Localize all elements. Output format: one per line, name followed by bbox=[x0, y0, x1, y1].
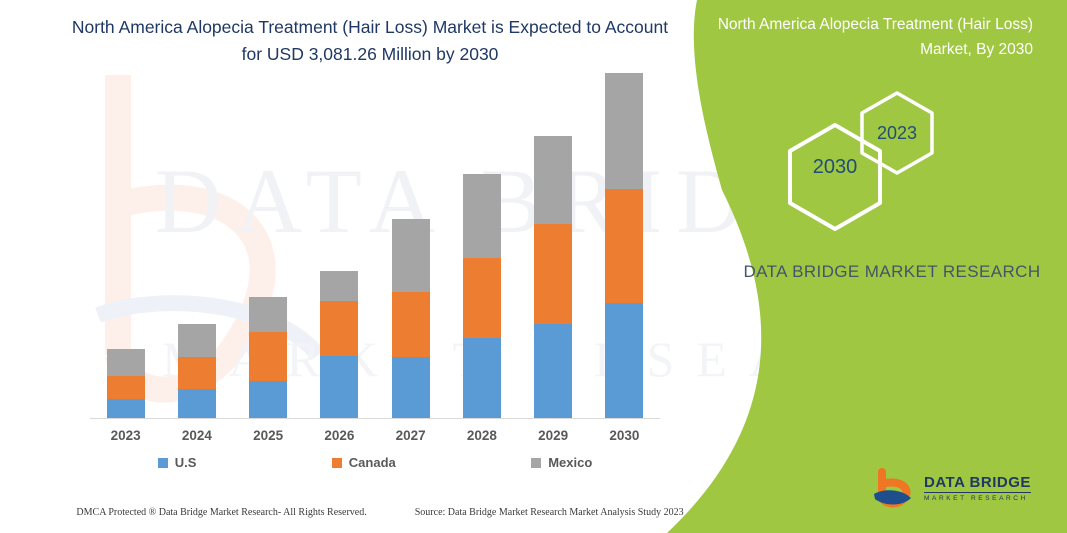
x-axis-label-2027: 2027 bbox=[375, 428, 446, 443]
bar-segment-mexico-2028 bbox=[463, 174, 501, 258]
bar-column-2023 bbox=[90, 60, 161, 418]
x-axis-label-2025: 2025 bbox=[233, 428, 304, 443]
chart-legend: U.SCanadaMexico bbox=[90, 455, 660, 470]
bar-segment-mexico-2026 bbox=[320, 271, 358, 301]
brand-name: DATA BRIDGE MARKET RESEARCH bbox=[727, 258, 1057, 286]
legend-label: U.S bbox=[175, 455, 197, 470]
footer: DMCA Protected ® Data Bridge Market Rese… bbox=[0, 507, 760, 518]
hexagon-2023-label: 2023 bbox=[857, 123, 937, 144]
bar-segment-canada-2028 bbox=[463, 258, 501, 339]
bar-segment-mexico-2027 bbox=[392, 219, 430, 292]
bar-segment-canada-2025 bbox=[249, 332, 287, 381]
legend-swatch-icon bbox=[531, 458, 541, 468]
chart-panel: DATA BRIDGE MARKET RESEARCH North Americ… bbox=[0, 0, 760, 533]
bar-segment-us-2030 bbox=[605, 303, 643, 418]
bar-segment-us-2027 bbox=[392, 357, 430, 418]
bar-segment-us-2024 bbox=[178, 389, 216, 418]
bar-segment-mexico-2029 bbox=[534, 136, 572, 225]
bar-segment-canada-2030 bbox=[605, 189, 643, 303]
bar-column-2024 bbox=[161, 60, 232, 418]
bar-segment-us-2026 bbox=[320, 356, 358, 418]
legend-label: Mexico bbox=[548, 455, 592, 470]
logo-main-text: DATA BRIDGE bbox=[924, 475, 1031, 493]
bar-segment-canada-2029 bbox=[534, 224, 572, 323]
x-axis-label-2026: 2026 bbox=[304, 428, 375, 443]
footer-dmca-text: DMCA Protected ® Data Bridge Market Rese… bbox=[76, 507, 366, 518]
data-bridge-logo-icon bbox=[872, 468, 916, 510]
bar-segment-canada-2026 bbox=[320, 301, 358, 355]
legend-swatch-icon bbox=[332, 458, 342, 468]
brand-panel: North America Alopecia Treatment (Hair L… bbox=[667, 0, 1067, 533]
bar-segment-us-2025 bbox=[249, 381, 287, 418]
bar-segment-us-2023 bbox=[107, 399, 145, 418]
stacked-bar-chart bbox=[90, 60, 660, 418]
bar-segment-canada-2027 bbox=[392, 292, 430, 357]
panel-title: North America Alopecia Treatment (Hair L… bbox=[713, 12, 1033, 62]
logo-sub-text: MARKET RESEARCH bbox=[924, 496, 1031, 503]
legend-item-canada[interactable]: Canada bbox=[332, 455, 396, 470]
x-axis-label-2029: 2029 bbox=[518, 428, 589, 443]
bar-segment-mexico-2024 bbox=[178, 324, 216, 357]
bar-segment-canada-2024 bbox=[178, 357, 216, 389]
legend-item-mexico[interactable]: Mexico bbox=[531, 455, 592, 470]
company-logo: DATA BRIDGE MARKET RESEARCH bbox=[872, 468, 1031, 510]
bar-segment-mexico-2023 bbox=[107, 349, 145, 376]
legend-label: Canada bbox=[349, 455, 396, 470]
hexagon-2030-label: 2030 bbox=[795, 156, 875, 179]
bar-segment-canada-2023 bbox=[107, 376, 145, 400]
x-axis-labels: 20232024202520262027202820292030 bbox=[90, 428, 660, 443]
bar-segment-us-2029 bbox=[534, 324, 572, 418]
bar-column-2027 bbox=[375, 60, 446, 418]
bar-column-2029 bbox=[518, 60, 589, 418]
legend-swatch-icon bbox=[158, 458, 168, 468]
x-axis-label-2030: 2030 bbox=[589, 428, 660, 443]
bar-column-2026 bbox=[304, 60, 375, 418]
bar-column-2025 bbox=[233, 60, 304, 418]
bar-segment-mexico-2025 bbox=[249, 297, 287, 331]
bar-segment-us-2028 bbox=[463, 338, 501, 418]
x-axis-label-2028: 2028 bbox=[446, 428, 517, 443]
x-axis-label-2023: 2023 bbox=[90, 428, 161, 443]
bar-column-2030 bbox=[589, 60, 660, 418]
infographic-root: DATA BRIDGE MARKET RESEARCH North Americ… bbox=[0, 0, 1067, 533]
bar-column-2028 bbox=[446, 60, 517, 418]
bar-segment-mexico-2030 bbox=[605, 73, 643, 188]
x-axis-label-2024: 2024 bbox=[161, 428, 232, 443]
footer-source-text: Source: Data Bridge Market Research Mark… bbox=[415, 507, 684, 518]
legend-item-us[interactable]: U.S bbox=[158, 455, 197, 470]
x-axis-line bbox=[90, 418, 660, 419]
